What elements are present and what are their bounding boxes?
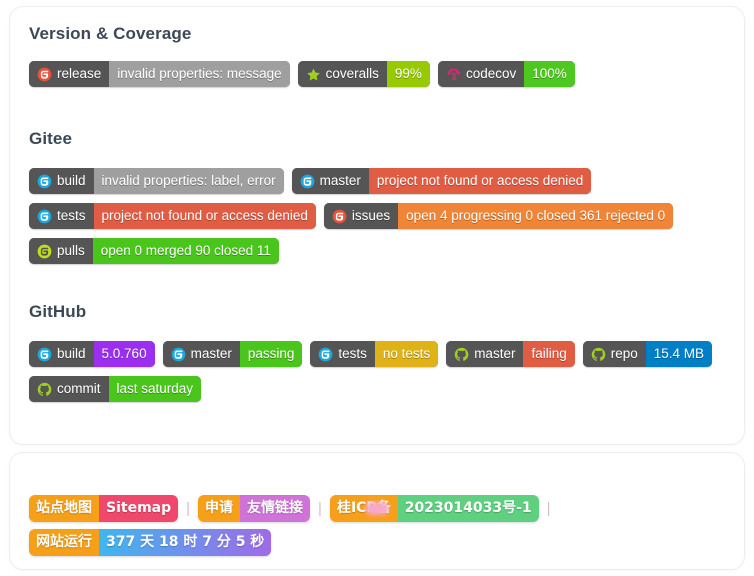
icp-badge-label: 桂ICP备 [330,495,398,522]
badge-master[interactable]: masterpassing [163,341,303,367]
badge-label-text: repo [611,341,638,367]
sitemap-badge-label: 站点地图 [29,495,99,522]
badge-row: testsproject not found or access deniedi… [29,203,673,229]
badge-label-text: master [474,341,515,367]
badge-label-text: codecov [466,61,516,87]
icp-badge[interactable]: 桂ICP备2023014033号-1 [330,495,539,522]
badge-label: master [163,341,240,367]
badge-pulls[interactable]: pullsopen 0 merged 90 closed 11 [29,238,279,264]
badge-label-text: master [191,341,232,367]
badge-value: last saturday [109,376,202,402]
gitee-g-red-icon [332,209,347,224]
star-icon [306,67,321,82]
badge-value: open 4 progressing 0 closed 361 rejected… [398,203,673,229]
badge-label: build [29,168,94,194]
badge-label-text: pulls [57,238,85,264]
badge-coveralls[interactable]: coveralls99% [298,61,430,87]
badge-release[interactable]: releaseinvalid properties: message [29,61,290,87]
gitee-icon [37,347,52,362]
footer-separator: | [184,500,192,517]
icp-badge-value: 2023014033号-1 [398,495,539,522]
badge-row: build5.0.760masterpassingtestsno testsma… [29,341,712,367]
badge-build[interactable]: buildinvalid properties: label, error [29,168,284,194]
badge-value: open 0 merged 90 closed 11 [93,238,279,264]
badge-value: failing [523,341,574,367]
footer-badge-row: 站点地图Sitemap|申请友情链接|桂ICP备2023014033号-1| [29,495,553,522]
friend-link-badge[interactable]: 申请友情链接 [198,495,310,522]
badge-master[interactable]: masterproject not found or access denied [292,168,592,194]
github-icon [37,382,52,397]
badge-label: build [29,341,94,367]
uptime-badge-value: 377 天 18 时 7 分 5 秒 [99,529,271,556]
badge-label: codecov [438,61,524,87]
badge-value: no tests [375,341,438,367]
footer-separator: | [316,500,324,517]
page-root: Version & Coveragereleaseinvalid propert… [0,0,754,576]
github-icon [454,347,469,362]
badge-value: project not found or access denied [369,168,591,194]
badge-label-text: release [57,61,101,87]
badge-build[interactable]: build5.0.760 [29,341,155,367]
badge-issues[interactable]: issuesopen 4 progressing 0 closed 361 re… [324,203,673,229]
badge-value: invalid properties: message [109,61,289,87]
gitee-icon [300,174,315,189]
badge-row: releaseinvalid properties: messagecovera… [29,61,575,87]
gitee-icon [171,347,186,362]
uptime-badge-label: 网站运行 [29,529,99,556]
badge-label: tests [29,203,94,229]
codecov-umbrella-icon [446,67,461,82]
badge-value: passing [240,341,303,367]
gitee-g-green-icon [37,244,52,259]
badge-commit[interactable]: commitlast saturday [29,376,201,402]
badge-row: commitlast saturday [29,376,201,402]
friend-link-badge-value: 友情链接 [240,495,310,522]
uptime-badge[interactable]: 网站运行377 天 18 时 7 分 5 秒 [29,529,271,556]
badge-label-text: coveralls [326,61,379,87]
badge-master[interactable]: masterfailing [446,341,575,367]
gitee-icon [37,174,52,189]
footer-badge-row: 网站运行377 天 18 时 7 分 5 秒 [29,529,271,556]
badge-label: master [292,168,369,194]
badge-value: 15.4 MB [646,341,712,367]
badge-label: master [446,341,523,367]
badge-label-text: tests [338,341,367,367]
badge-label: commit [29,376,109,402]
badge-label: pulls [29,238,93,264]
badge-label-text: tests [57,203,86,229]
badge-value: project not found or access denied [94,203,316,229]
badge-value: invalid properties: label, error [94,168,284,194]
sitemap-badge-value: Sitemap [99,495,178,522]
section-title-github: GitHub [29,302,86,322]
friend-link-badge-label: 申请 [198,495,240,522]
badge-tests[interactable]: testsno tests [310,341,438,367]
badge-label: issues [324,203,398,229]
badge-value: 100% [524,61,575,87]
badge-label: coveralls [298,61,387,87]
badge-label-text: build [57,341,86,367]
badge-label: repo [583,341,646,367]
badge-row: pullsopen 0 merged 90 closed 11 [29,238,279,264]
badge-label-text: master [320,168,361,194]
section-title-gitee: Gitee [29,129,72,149]
badge-row: buildinvalid properties: label, errormas… [29,168,591,194]
badge-label-text: commit [57,376,101,402]
sitemap-badge[interactable]: 站点地图Sitemap [29,495,178,522]
badge-value: 5.0.760 [94,341,155,367]
gitee-icon [37,209,52,224]
section-title-version-coverage: Version & Coverage [29,24,191,44]
badge-label-text: issues [352,203,390,229]
gitee-icon [318,347,333,362]
badge-label: release [29,61,109,87]
badge-label: tests [310,341,375,367]
gitee-g-red-icon [37,67,52,82]
badge-codecov[interactable]: codecov100% [438,61,575,87]
footer-separator: | [545,500,553,517]
github-icon [591,347,606,362]
badge-label-text: build [57,168,86,194]
badge-repo[interactable]: repo15.4 MB [583,341,712,367]
badge-tests[interactable]: testsproject not found or access denied [29,203,316,229]
badge-value: 99% [387,61,430,87]
